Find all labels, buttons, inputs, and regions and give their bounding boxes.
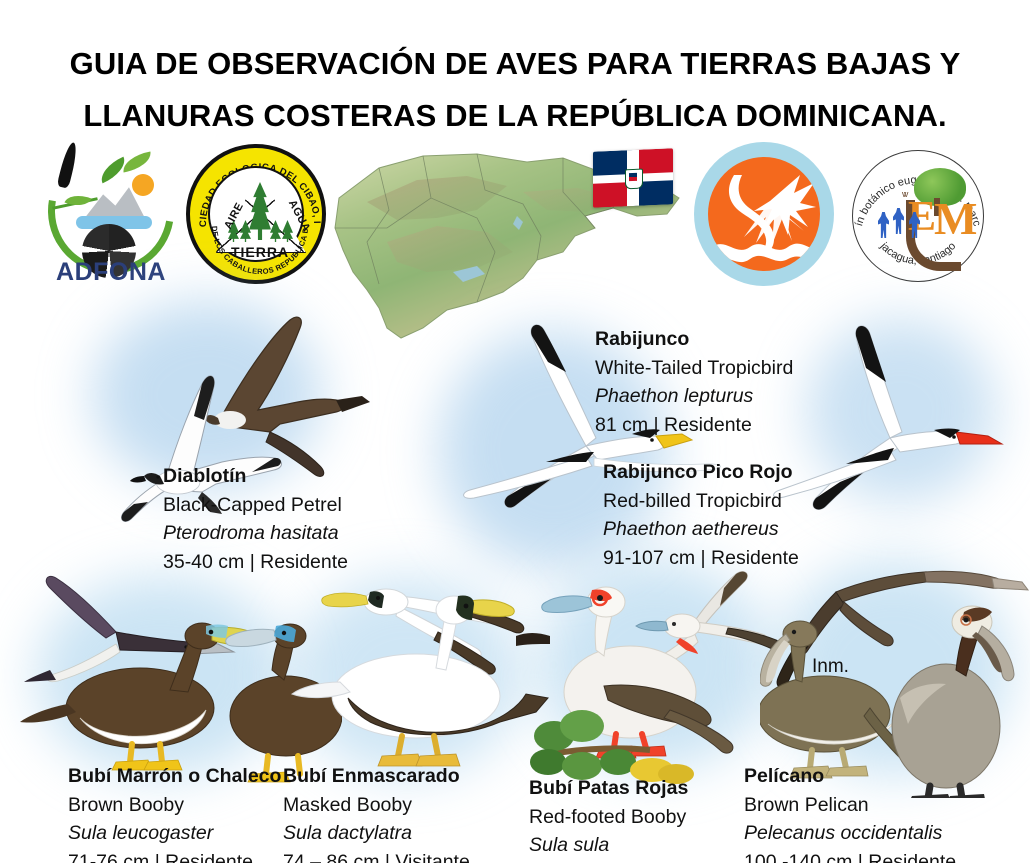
adfona-wordmark: ADFONA xyxy=(36,258,186,287)
species-meta: 100 -140 cm | Residente xyxy=(744,848,956,863)
sociedad-ecologica-seal: SOCIEDAD ECOLOGICA DEL CIBAO, INC. AIRE … xyxy=(186,144,326,284)
species-label-diabloton: Diablotín Black-Capped Petrel Pterodroma… xyxy=(163,462,348,576)
species-label-pelicano: Pelícano Brown Pelican Pelecanus occiden… xyxy=(744,762,956,863)
poster-title: GUIA DE OBSERVACIÓN DE AVES PARA TIERRAS… xyxy=(0,38,1030,142)
species-name-es: Pelícano xyxy=(744,762,956,791)
flag-coat-of-arms-icon xyxy=(625,169,643,190)
species-name-es: Rabijunco Pico Rojo xyxy=(603,458,799,487)
svg-text:SANTIAGO DE LOS CABALLEROS R: SANTIAGO DE LOS CABALLEROS REPUBLICA DOM… xyxy=(190,148,310,276)
sec-arc-bottom-text: SANTIAGO DE LOS CABALLEROS REPUBLICA DOM… xyxy=(190,148,330,288)
sec-arc-bottom-label: SANTIAGO DE LOS CABALLEROS REPUBLICA DOM… xyxy=(190,148,310,276)
adfona-sun-icon xyxy=(132,174,154,196)
species-name-en: White-Tailed Tropicbird xyxy=(595,354,793,383)
red-billed-tropicbird-art xyxy=(770,292,1030,542)
species-meta: 91-107 cm | Residente xyxy=(603,544,799,573)
dominican-republic-flag-icon xyxy=(593,148,673,207)
species-label-rabijunco: Rabijunco White-Tailed Tropicbird Phaeth… xyxy=(595,325,793,439)
species-label-rabijunco-pico-rojo: Rabijunco Pico Rojo Red-billed Tropicbir… xyxy=(603,458,799,572)
wash-tropicbird-right xyxy=(806,318,996,503)
species-name-es: Bubí Enmascarado xyxy=(283,762,470,791)
species-name-sci: Phaethon lepturus xyxy=(595,382,793,411)
masked-booby-art xyxy=(286,548,556,788)
jardin-people-icon xyxy=(878,208,924,238)
jardin-letter-m: M xyxy=(934,196,977,242)
species-label-bubi-enmascarado: Bubí Enmascarado Masked Booby Sula dacty… xyxy=(283,762,470,863)
adfona-logo: ADFONA xyxy=(36,140,186,290)
immature-annotation: Inm. xyxy=(812,656,849,678)
species-name-sci: Phaethon aethereus xyxy=(603,515,799,544)
brown-booby-second-art xyxy=(212,596,342,786)
species-meta: 35-40 cm | Residente xyxy=(163,548,348,577)
red-footed-booby-art xyxy=(530,540,790,785)
species-name-en: Masked Booby xyxy=(283,791,470,820)
species-meta: 71-76 cm | Visitante xyxy=(529,860,701,863)
species-meta: 71-76 cm | Residente xyxy=(68,848,281,863)
species-name-es: Rabijunco xyxy=(595,325,793,354)
species-name-es: Bubí Marrón o Chaleco xyxy=(68,762,281,791)
species-meta: 81 cm | Residente xyxy=(595,411,793,440)
bird-guide-poster: GUIA DE OBSERVACIÓN DE AVES PARA TIERRAS… xyxy=(0,0,1030,863)
species-name-sci: Pterodroma hasitata xyxy=(163,519,348,548)
species-name-es: Bubí Patas Rojas xyxy=(529,774,701,803)
dark-wing-tip-art xyxy=(516,620,556,660)
species-name-en: Red-footed Booby xyxy=(529,803,701,832)
species-name-en: Brown Pelican xyxy=(744,791,956,820)
species-name-sci: Sula dactylatra xyxy=(283,819,470,848)
species-name-sci: Pelecanus occidentalis xyxy=(744,819,956,848)
species-name-en: Red-billed Tropicbird xyxy=(603,487,799,516)
jardin-botanico-logo: jardín botánico eugenio de js. marcano j… xyxy=(842,144,994,292)
wash-booby-mid xyxy=(292,576,522,776)
title-line-1: GUIA DE OBSERVACIÓN DE AVES PARA TIERRAS… xyxy=(0,38,1030,90)
wash-booby-red xyxy=(540,560,770,770)
logo-row: ADFONA SOCIEDAD ECOLOGICA DEL CIBAO, INC… xyxy=(0,138,1030,298)
species-label-bubi-patas-rojas: Bubí Patas Rojas Red-footed Booby Sula s… xyxy=(529,774,701,863)
species-name-es: Diablotín xyxy=(163,462,348,491)
species-name-en: Brown Booby xyxy=(68,791,281,820)
flamingo-logo xyxy=(694,142,834,286)
wash-booby-left xyxy=(36,576,286,776)
species-name-sci: Sula sula xyxy=(529,831,701,860)
species-label-bubi-marron: Bubí Marrón o Chaleco Brown Booby Sula l… xyxy=(68,762,281,863)
flamingo-palm-icon xyxy=(708,157,820,271)
brown-booby-art xyxy=(20,552,290,787)
flamingo-orange-disc xyxy=(708,157,820,271)
species-name-sci: Sula leucogaster xyxy=(68,819,281,848)
brown-pelican-art xyxy=(760,548,1030,798)
species-meta: 74 – 86 cm | Visitante xyxy=(283,848,470,863)
species-name-en: Black-Capped Petrel xyxy=(163,491,348,520)
